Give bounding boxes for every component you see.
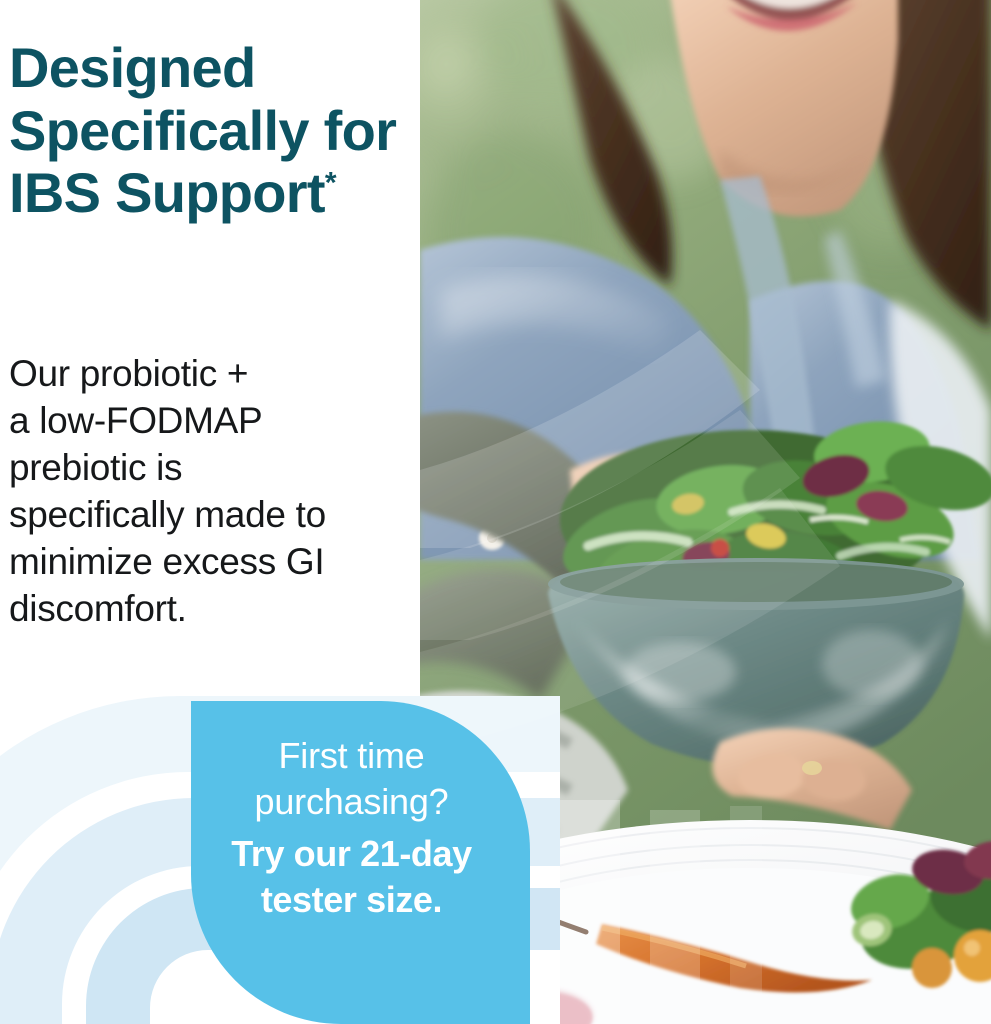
page-title: Designed Specifically for IBS Support*: [9, 37, 409, 225]
badge-text-block: First time purchasing? Try our 21-day te…: [191, 733, 512, 923]
headline-text: Designed Specifically for IBS Support: [9, 36, 396, 224]
tester-size-badge[interactable]: First time purchasing? Try our 21-day te…: [191, 701, 530, 1024]
footnote-asterisk: *: [325, 167, 336, 200]
body-copy: Our probiotic + a low-FODMAP prebiotic i…: [9, 351, 419, 633]
promo-canvas: Designed Specifically for IBS Support* O…: [0, 0, 991, 1024]
badge-cta: Try our 21-day tester size.: [191, 831, 512, 923]
badge-question: First time purchasing?: [191, 733, 512, 825]
